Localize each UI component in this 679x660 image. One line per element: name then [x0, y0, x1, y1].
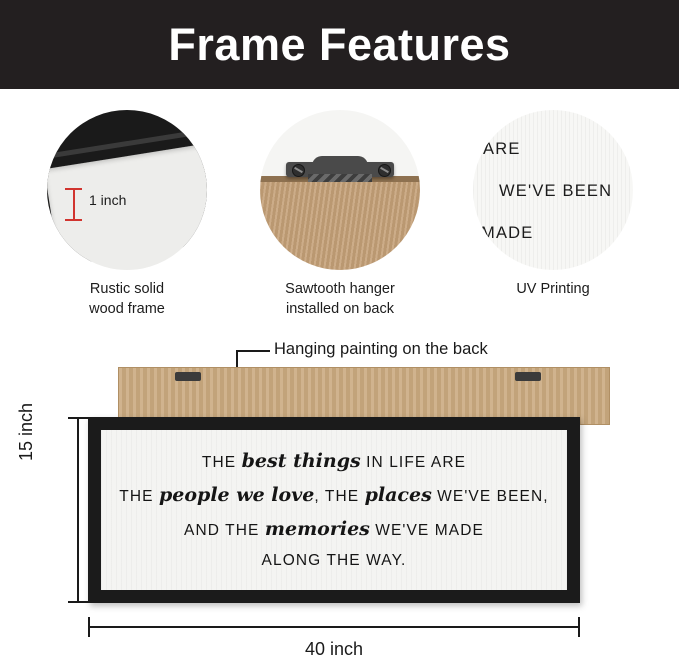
sign-face: THE best things IN LIFE ARETHE people we…: [101, 430, 567, 590]
feature-caption-line-2: wood frame: [22, 300, 232, 320]
feature-caption-uv-printing: UV Printing: [448, 280, 658, 300]
feature-caption-line-1: Sawtooth hanger: [235, 280, 445, 300]
quote-line-4: ALONG THE WAY.: [262, 552, 407, 570]
measure-cap-bottom: [65, 219, 82, 221]
measure-line: [73, 188, 75, 220]
sawtooth-hanger-photo: [260, 110, 420, 270]
callout-leader-horizontal: [236, 350, 270, 352]
uv-printing-photo: ARE WE'VE BEEN MADE: [473, 110, 633, 270]
feature-caption-line-1: Rustic solid: [22, 280, 232, 300]
quote-segment: AND THE: [184, 522, 265, 539]
uv-sample-line-2: WE'VE BEEN: [499, 182, 612, 201]
quote-segment: THE: [202, 454, 242, 471]
sign-frame: THE best things IN LIFE ARETHE people we…: [88, 417, 580, 603]
screw-icon-left: [292, 164, 305, 177]
dimension-height-tick-bottom: [68, 601, 88, 603]
dimension-height-bar: [77, 417, 79, 603]
quote-line-3: AND THE memories WE'VE MADE: [184, 518, 484, 540]
uv-sample-line-3: MADE: [481, 224, 533, 243]
back-clip-right-icon: [515, 372, 541, 381]
quote-line-1: THE best things IN LIFE ARE: [202, 450, 466, 472]
sawtooth-hanger-icon: [286, 156, 394, 182]
quote-segment: IN LIFE ARE: [361, 454, 466, 471]
quote-line-2: THE people we love, THE places WE'VE BEE…: [119, 484, 548, 506]
dimension-width-bar: [88, 626, 580, 628]
dimension-height: [66, 417, 88, 603]
hanger-hump: [312, 156, 368, 174]
feature-list: 1 inch Rustic solid wood frame Sawtooth …: [0, 110, 679, 320]
feature-caption-rustic-frame: Rustic solid wood frame: [22, 280, 232, 319]
uv-sample-line-1: ARE: [483, 140, 521, 159]
feature-item-rustic-frame: 1 inch Rustic solid wood frame: [22, 110, 232, 319]
quote-segment: ALONG THE WAY.: [262, 552, 407, 569]
screw-icon-right: [378, 164, 391, 177]
dimension-width: 40 inch: [88, 617, 580, 637]
dimension-width-tick-left: [88, 617, 90, 637]
feature-caption-line-2: installed on back: [235, 300, 445, 320]
quote-segment: places: [365, 484, 432, 506]
measure-cap-top: [65, 188, 82, 190]
quote-segment: WE'VE MADE: [370, 522, 484, 539]
quote-segment: WE'VE BEEN,: [432, 488, 549, 505]
quote-segment: memories: [265, 518, 370, 540]
frame-thickness-label: 1 inch: [89, 192, 126, 208]
dimension-width-tick-right: [578, 617, 580, 637]
feature-item-sawtooth-hanger: Sawtooth hanger installed on back: [235, 110, 445, 319]
hanger-photo-backboard: [260, 180, 420, 270]
dimension-height-tick-top: [68, 417, 88, 419]
quote-segment: , THE: [314, 488, 364, 505]
dimension-height-label: 15 inch: [16, 403, 37, 461]
feature-item-uv-printing: ARE WE'VE BEEN MADE UV Printing: [448, 110, 658, 300]
quote-segment: THE: [119, 488, 159, 505]
dimension-width-label: 40 inch: [88, 639, 580, 660]
quote-segment: best things: [242, 450, 361, 472]
measure-arrow-icon: [63, 186, 85, 222]
feature-caption-sawtooth-hanger: Sawtooth hanger installed on back: [235, 280, 445, 319]
rustic-frame-photo: 1 inch: [47, 110, 207, 270]
hanger-teeth: [308, 174, 372, 182]
header-banner: Frame Features: [0, 0, 679, 89]
quote-segment: people we love: [159, 484, 314, 506]
feature-caption-line-1: UV Printing: [448, 280, 658, 300]
page-title: Frame Features: [168, 19, 510, 71]
back-clip-left-icon: [175, 372, 201, 381]
product-illustration: THE best things IN LIFE ARETHE people we…: [0, 355, 679, 651]
